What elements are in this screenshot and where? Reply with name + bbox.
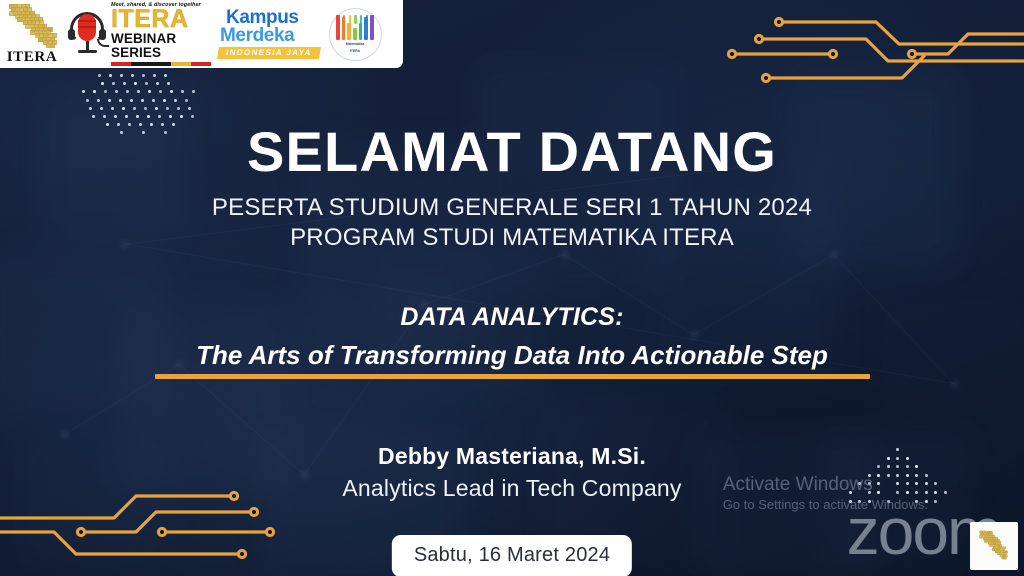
roundel-label-line1: Matematika [346,42,364,46]
sponsor-logo-bar: ITERA Meet, shared, & discover together … [0,0,403,68]
webinar-color-bar [111,62,211,66]
roundel-label-line2: ITERA [350,49,360,53]
kampus-merdeka-logo: Kampus Merdeka INDONESIA JAYA [214,0,324,68]
circuit-decoration-top-right [716,4,1024,100]
kampus-merdeka-ribbon: INDONESIA JAYA [217,47,321,59]
itera-island-icon-thumb [978,530,1009,561]
itera-wordmark: ITERA [7,49,58,66]
kampus-merdeka-line2: Merdeka [220,27,294,45]
event-date-badge: Sabtu, 16 Maret 2024 [392,535,632,576]
itera-webinar-series-logo: Meet, shared, & discover together ITERA … [64,0,214,68]
itera-logo: ITERA [0,0,64,68]
matematika-itera-logo: Matematika ITERA [324,0,386,68]
webinar-brand: ITERA [111,8,189,32]
slide-subtitle-line1: PESERTA STUDIUM GENERALE SERI 1 TAHUN 20… [0,196,1024,220]
accent-rule [155,374,870,379]
webinar-series-label: WEBINAR SERIES [111,32,214,60]
itera-island-icon [9,4,55,48]
slide-topic-line2: The Arts of Transforming Data Into Actio… [0,340,1024,371]
slide-subtitle-line2: PROGRAM STUDI MATEMATIKA ITERA [0,226,1024,250]
microphone-headset-icon [67,9,107,59]
letter-m-icon [336,15,374,40]
slide-topic-line1: DATA ANALYTICS: [0,303,1024,332]
zoom-shared-screen: ITERA Meet, shared, & discover together … [0,0,1024,576]
slide-headline: SELAMAT DATANG [0,124,1024,180]
participant-video-thumbnail[interactable] [970,522,1018,570]
speaker-name: Debby Masteriana, M.Si. [0,443,1024,470]
